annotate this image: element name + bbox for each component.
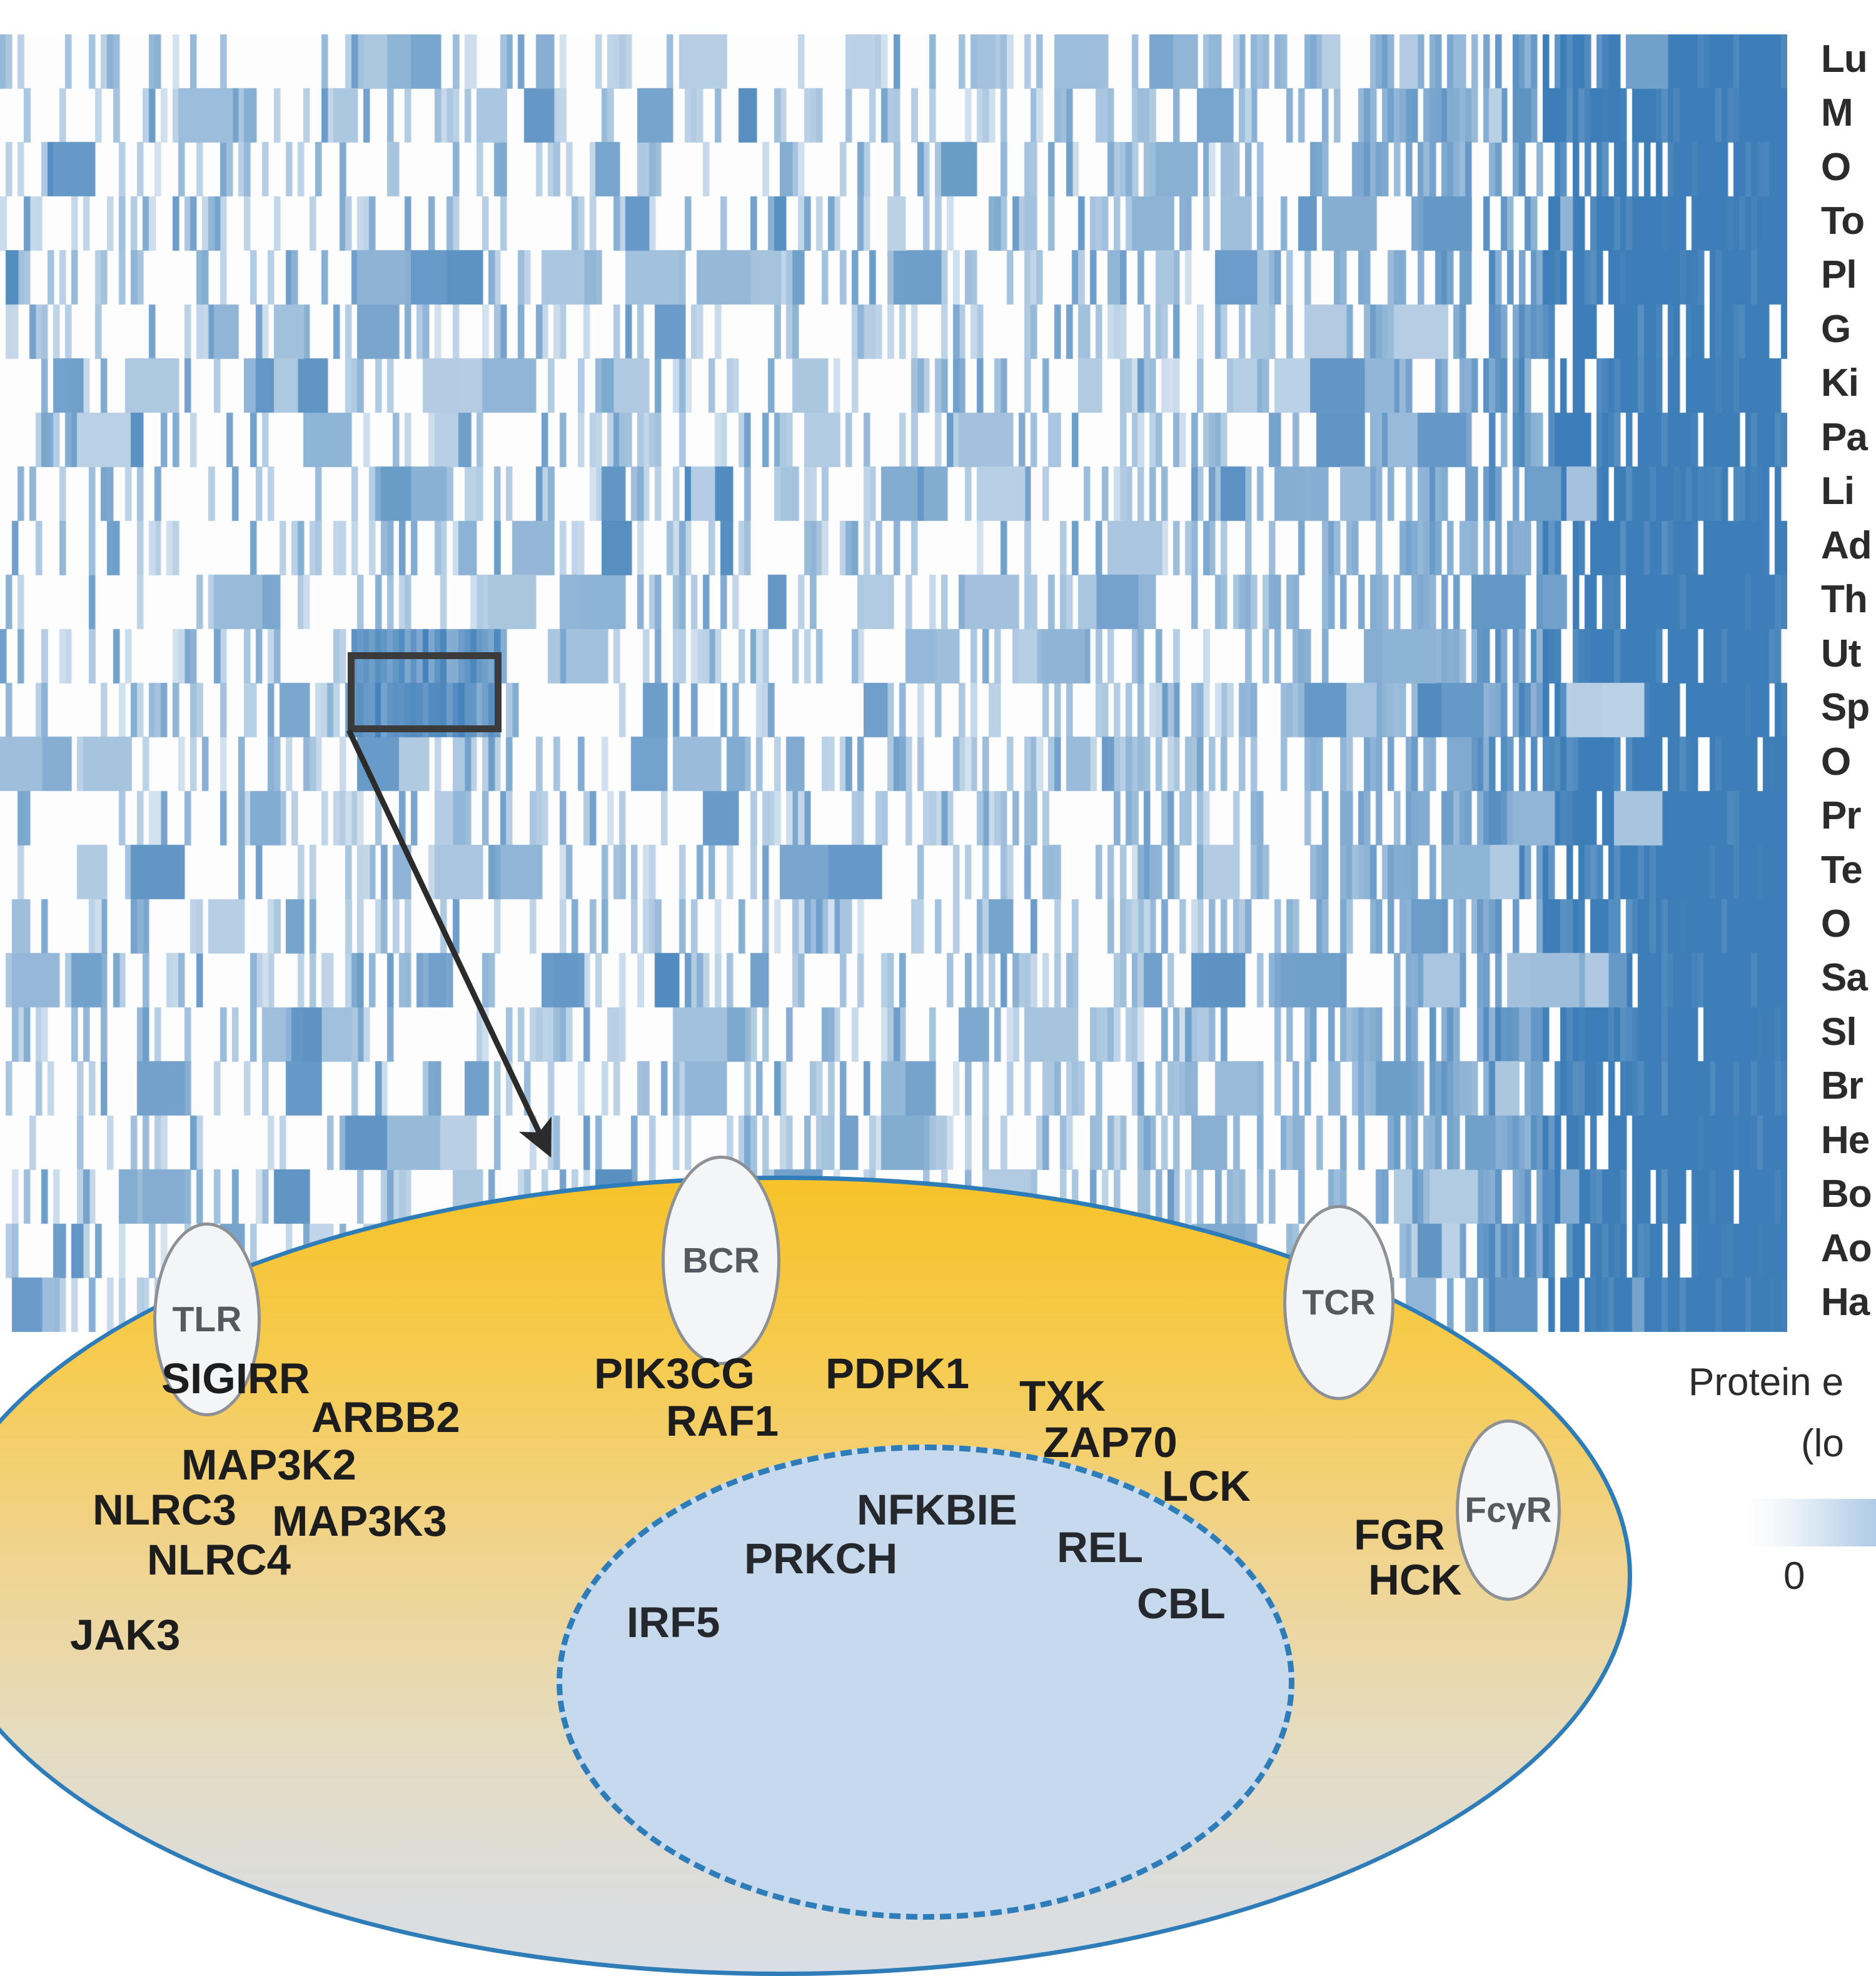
- gene-nlrc4: NLRC4: [147, 1538, 291, 1581]
- row-label: Ki: [1821, 364, 1858, 403]
- gene-pdpk1: PDPK1: [825, 1352, 969, 1395]
- colorbar-legend: Protein e (lo 0: [1688, 1360, 1876, 1623]
- gene-irf5: IRF5: [627, 1601, 720, 1644]
- row-label: G: [1821, 310, 1850, 349]
- row-label: Sl: [1821, 1013, 1857, 1052]
- row-label: Bo: [1821, 1175, 1872, 1214]
- legend-title-line1: Protein e: [1688, 1360, 1843, 1404]
- gene-hck: HCK: [1368, 1558, 1462, 1601]
- row-label: Pr: [1821, 797, 1860, 835]
- gene-nfkbie: NFKBIE: [857, 1488, 1017, 1531]
- heatmap-row-labels: LuMOToPlGKiPaLiAdThUtSpOPrTeOSaSlBrHeBoA…: [1821, 34, 1876, 1332]
- legend-title-line2: (lo: [1801, 1421, 1844, 1466]
- row-label: O: [1821, 148, 1850, 187]
- row-label: Ao: [1821, 1229, 1872, 1268]
- gene-jak3: JAK3: [70, 1613, 180, 1656]
- row-label: Te: [1821, 851, 1862, 890]
- row-label: Ad: [1821, 527, 1872, 565]
- row-label: Br: [1821, 1067, 1863, 1106]
- row-label: Ha: [1821, 1283, 1869, 1322]
- heatmap-canvas: [0, 34, 1787, 1332]
- receptor-fcgr-label: FcγR: [1465, 1490, 1551, 1531]
- receptor-tlr-label: TLR: [173, 1299, 242, 1340]
- row-label: Sp: [1821, 688, 1869, 727]
- receptor-bcr-label: BCR: [682, 1240, 760, 1281]
- receptor-tcr[interactable]: TCR: [1283, 1205, 1394, 1400]
- gene-arbb2: ARBB2: [311, 1396, 460, 1439]
- row-label: He: [1821, 1121, 1869, 1160]
- gene-sigirr: SIGIRR: [161, 1357, 310, 1400]
- gene-txk: TXK: [1019, 1374, 1106, 1418]
- protein-expression-heatmap: [0, 34, 1787, 1332]
- gene-raf1: RAF1: [666, 1399, 779, 1443]
- receptor-fcgr[interactable]: FcγR: [1456, 1419, 1561, 1601]
- row-label: Th: [1821, 580, 1867, 619]
- gene-pik3cg: PIK3CG: [594, 1352, 755, 1395]
- receptor-tcr-label: TCR: [1302, 1282, 1375, 1323]
- legend-gradient-bar: [1745, 1499, 1876, 1546]
- row-label: Ut: [1821, 635, 1860, 673]
- gene-map3k3: MAP3K3: [272, 1500, 447, 1543]
- row-label: O: [1821, 905, 1850, 944]
- row-label: Lu: [1821, 40, 1867, 79]
- gene-nlrc3: NLRC3: [93, 1488, 236, 1531]
- gene-rel: REL: [1057, 1526, 1143, 1569]
- row-label: Li: [1821, 472, 1854, 511]
- gene-cbl: CBL: [1137, 1582, 1226, 1625]
- gene-prkch: PRKCH: [744, 1537, 897, 1580]
- callout-arrow: [338, 713, 619, 1188]
- row-label: O: [1821, 743, 1850, 782]
- row-label: M: [1821, 94, 1853, 133]
- gene-fgr: FGR: [1354, 1513, 1445, 1556]
- row-label: Pl: [1821, 256, 1857, 295]
- gene-map3k2: MAP3K2: [181, 1443, 356, 1486]
- row-label: To: [1821, 202, 1864, 241]
- gene-lck: LCK: [1162, 1464, 1251, 1508]
- row-label: Sa: [1821, 959, 1867, 997]
- receptor-bcr[interactable]: BCR: [662, 1156, 780, 1365]
- row-label: Pa: [1821, 418, 1867, 457]
- gene-zap70: ZAP70: [1043, 1421, 1178, 1464]
- legend-tick-zero: 0: [1783, 1554, 1805, 1598]
- immune-cell-schematic: Cytokine receptors TLR BCR TCR FcγR SIGI…: [0, 1176, 1632, 1976]
